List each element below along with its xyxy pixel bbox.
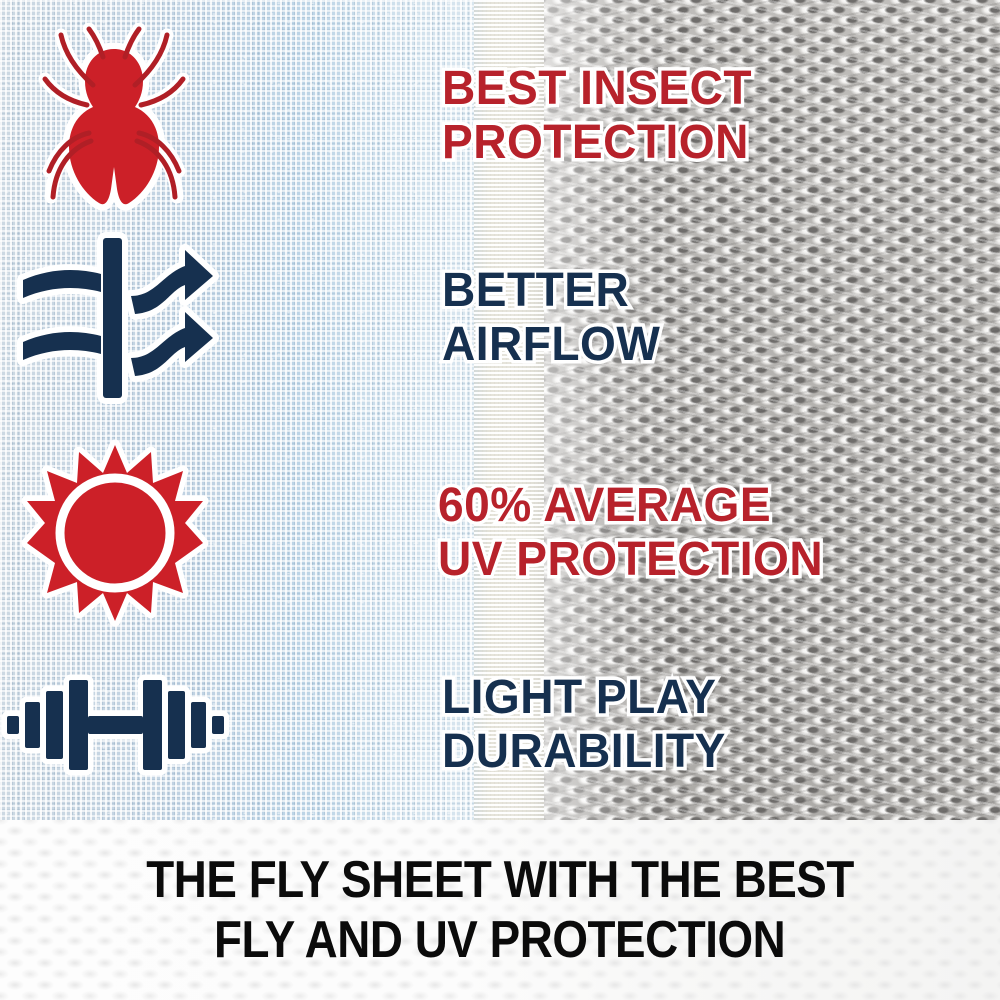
feature-line: BETTER xyxy=(442,264,660,318)
feature-line: 60% AVERAGE xyxy=(438,479,823,533)
dumbbell-icon xyxy=(0,655,230,795)
feature-line: LIGHT PLAY xyxy=(442,671,726,725)
caption-line-1: THE FLY SHEET WITH THE BEST xyxy=(146,850,854,910)
feature-row-durability: LIGHT PLAY DURABILITY xyxy=(0,655,960,795)
caption-line-2: FLY AND UV PROTECTION xyxy=(214,910,785,970)
feature-line: DURABILITY xyxy=(442,725,726,779)
fly-icon xyxy=(0,18,230,213)
feature-text-airflow: BETTER AIRFLOW xyxy=(442,264,669,372)
feature-row-insect-protection: BEST INSECT PROTECTION xyxy=(0,18,960,213)
feature-line: BEST INSECT xyxy=(442,62,752,116)
feature-list: BEST INSECT PROTECTION xyxy=(0,0,1000,820)
feature-line: UV PROTECTION xyxy=(438,533,823,587)
sun-icon xyxy=(0,440,230,625)
bottom-caption-band: THE FLY SHEET WITH THE BEST FLY AND UV P… xyxy=(0,820,1000,1000)
feature-line: PROTECTION xyxy=(442,116,752,170)
feature-text-uv-protection: 60% AVERAGE UV PROTECTION xyxy=(438,479,839,587)
product-feature-poster: BEST INSECT PROTECTION xyxy=(0,0,1000,1000)
airflow-arrows-icon xyxy=(0,240,230,395)
feature-line: AIRFLOW xyxy=(442,318,660,372)
feature-text-durability: LIGHT PLAY DURABILITY xyxy=(442,671,738,779)
feature-text-insect-protection: BEST INSECT PROTECTION xyxy=(442,62,765,170)
feature-row-airflow: BETTER AIRFLOW xyxy=(0,240,960,395)
feature-row-uv-protection: 60% AVERAGE UV PROTECTION xyxy=(0,440,960,625)
